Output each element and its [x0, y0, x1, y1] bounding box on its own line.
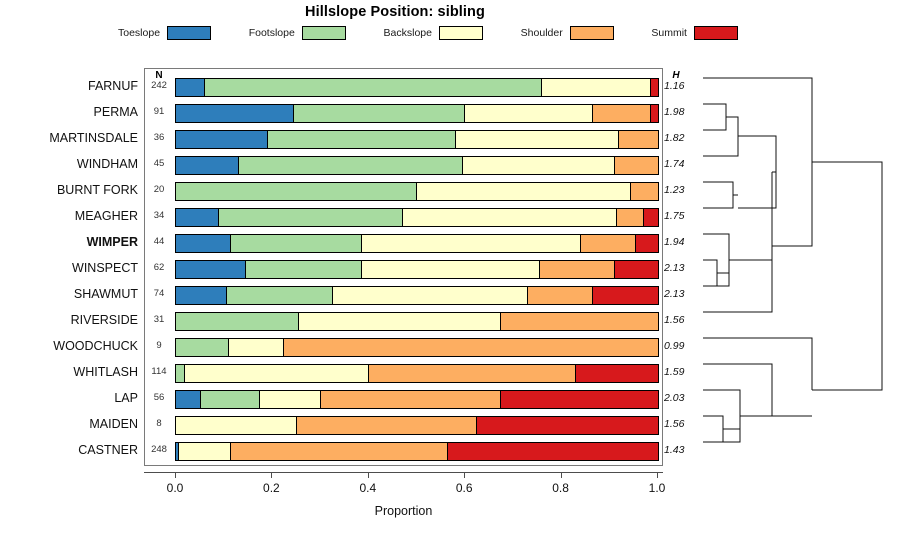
bar-segment-backslope [176, 417, 297, 434]
bar-segment-backslope [417, 183, 631, 200]
row-n-value: 44 [146, 229, 172, 255]
bar-segment-toeslope [176, 105, 294, 122]
row-n-value: 36 [146, 125, 172, 151]
row-n-value: 45 [146, 151, 172, 177]
bar-segment-toeslope [176, 157, 239, 174]
x-tick-label: 1.0 [637, 481, 677, 495]
bar-segment-summit [651, 79, 658, 96]
row-n-value: 8 [146, 411, 172, 437]
row-h-value: 1.43 [664, 437, 704, 463]
stacked-bar [175, 312, 659, 331]
row-n-value: 34 [146, 203, 172, 229]
stacked-bar [175, 364, 659, 383]
row-h-value: 0.99 [664, 333, 704, 359]
bar-segment-shoulder [619, 131, 658, 148]
row-h-value: 1.16 [664, 73, 704, 99]
bar-segment-summit [593, 287, 658, 304]
bar-segment-footslope [246, 261, 362, 278]
bar-segment-summit [448, 443, 658, 460]
bar-segment-footslope [201, 391, 260, 408]
x-tick-label: 0.0 [155, 481, 195, 495]
row-label-riverside: RIVERSIDE [0, 307, 138, 333]
bar-segment-shoulder [631, 183, 658, 200]
stacked-bar [175, 286, 659, 305]
bar-segment-toeslope [176, 261, 246, 278]
bar-segment-shoulder [540, 261, 615, 278]
bar-segment-shoulder [615, 157, 658, 174]
row-label-shawmut: SHAWMUT [0, 281, 138, 307]
stacked-bar [175, 130, 659, 149]
x-axis-line [144, 472, 663, 473]
row-label-farnuf: FARNUF [0, 73, 138, 99]
bar-segment-shoulder [528, 287, 593, 304]
x-axis-label: Proportion [144, 504, 663, 518]
stacked-bar [175, 208, 659, 227]
bar-segment-summit [615, 261, 658, 278]
bar-segment-footslope [219, 209, 402, 226]
bar-segment-toeslope [176, 209, 219, 226]
x-tick [175, 472, 176, 478]
bar-segment-shoulder [297, 417, 478, 434]
x-tick [657, 472, 658, 478]
bar-segment-backslope [362, 235, 581, 252]
bar-segment-backslope [403, 209, 617, 226]
row-label-maiden: MAIDEN [0, 411, 138, 437]
row-h-value: 2.13 [664, 255, 704, 281]
bar-segment-backslope [299, 313, 501, 330]
bar-segment-footslope [176, 313, 299, 330]
bar-segment-footslope [239, 157, 463, 174]
bar-segment-summit [501, 391, 658, 408]
bar-segment-footslope [294, 105, 465, 122]
row-label-meagher: MEAGHER [0, 203, 138, 229]
bar-segment-shoulder [501, 313, 658, 330]
row-n-value: 242 [146, 73, 172, 99]
row-n-value: 20 [146, 177, 172, 203]
row-label-martinsdale: MARTINSDALE [0, 125, 138, 151]
row-h-value: 1.74 [664, 151, 704, 177]
bar-segment-toeslope [176, 131, 268, 148]
bar-segment-toeslope [176, 287, 227, 304]
stacked-bar [175, 416, 659, 435]
row-h-value: 2.03 [664, 385, 704, 411]
row-h-value: 1.23 [664, 177, 704, 203]
x-tick [368, 472, 369, 478]
x-tick [561, 472, 562, 478]
row-label-winspect: WINSPECT [0, 255, 138, 281]
row-label-woodchuck: WOODCHUCK [0, 333, 138, 359]
row-n-value: 91 [146, 99, 172, 125]
dendrogram [700, 60, 900, 480]
row-label-castner: CASTNER [0, 437, 138, 463]
row-label-whitlash: WHITLASH [0, 359, 138, 385]
stacked-bar [175, 182, 659, 201]
bar-segment-shoulder [617, 209, 644, 226]
row-label-windham: WINDHAM [0, 151, 138, 177]
x-tick-label: 0.2 [251, 481, 291, 495]
stacked-bar [175, 442, 659, 461]
bar-segment-toeslope [176, 235, 231, 252]
row-n-value: 114 [146, 359, 172, 385]
x-tick-label: 0.4 [348, 481, 388, 495]
bar-segment-backslope [179, 443, 232, 460]
bar-segment-shoulder [231, 443, 448, 460]
bar-segment-backslope [185, 365, 369, 382]
bar-segment-footslope [227, 287, 333, 304]
stacked-bar [175, 156, 659, 175]
bar-segment-backslope [229, 339, 284, 356]
bar-segment-backslope [333, 287, 528, 304]
bar-segment-summit [651, 105, 658, 122]
bar-segment-footslope [176, 365, 185, 382]
bar-segment-footslope [231, 235, 361, 252]
bar-segment-backslope [260, 391, 320, 408]
row-label-burnt-fork: BURNT FORK [0, 177, 138, 203]
bar-segment-summit [477, 417, 658, 434]
x-tick [271, 472, 272, 478]
x-tick [464, 472, 465, 478]
row-n-value: 74 [146, 281, 172, 307]
row-h-value: 1.59 [664, 359, 704, 385]
row-h-value: 1.98 [664, 99, 704, 125]
bar-segment-summit [636, 235, 658, 252]
row-h-value: 1.75 [664, 203, 704, 229]
row-n-value: 62 [146, 255, 172, 281]
bar-segment-backslope [542, 79, 650, 96]
row-h-value: 1.82 [664, 125, 704, 151]
row-n-value: 31 [146, 307, 172, 333]
stacked-bar [175, 104, 659, 123]
row-h-value: 1.94 [664, 229, 704, 255]
row-h-value: 1.56 [664, 411, 704, 437]
row-h-value: 1.56 [664, 307, 704, 333]
bar-segment-backslope [456, 131, 620, 148]
row-label-perma: PERMA [0, 99, 138, 125]
bar-segment-backslope [465, 105, 593, 122]
bar-segment-toeslope [176, 79, 205, 96]
bar-segment-summit [576, 365, 658, 382]
x-tick-label: 0.6 [444, 481, 484, 495]
bar-segment-shoulder [369, 365, 576, 382]
row-label-wimper: WIMPER [0, 229, 138, 255]
bar-segment-footslope [176, 339, 229, 356]
bar-segment-shoulder [581, 235, 636, 252]
bar-segment-backslope [463, 157, 615, 174]
bar-segment-summit [644, 209, 658, 226]
row-n-value: 9 [146, 333, 172, 359]
stacked-bar [175, 234, 659, 253]
stacked-bar [175, 78, 659, 97]
bar-segment-footslope [176, 183, 417, 200]
stacked-bar [175, 260, 659, 279]
bar-segment-shoulder [593, 105, 651, 122]
row-n-value: 56 [146, 385, 172, 411]
bar-segment-shoulder [321, 391, 502, 408]
bar-segment-backslope [362, 261, 540, 278]
row-label-lap: LAP [0, 385, 138, 411]
bar-segment-toeslope [176, 391, 201, 408]
bar-segment-footslope [268, 131, 456, 148]
stacked-bar [175, 390, 659, 409]
stacked-bar [175, 338, 659, 357]
row-n-value: 248 [146, 437, 172, 463]
row-h-value: 2.13 [664, 281, 704, 307]
bar-segment-footslope [205, 79, 542, 96]
bar-segment-shoulder [284, 339, 658, 356]
x-tick-label: 0.8 [541, 481, 581, 495]
